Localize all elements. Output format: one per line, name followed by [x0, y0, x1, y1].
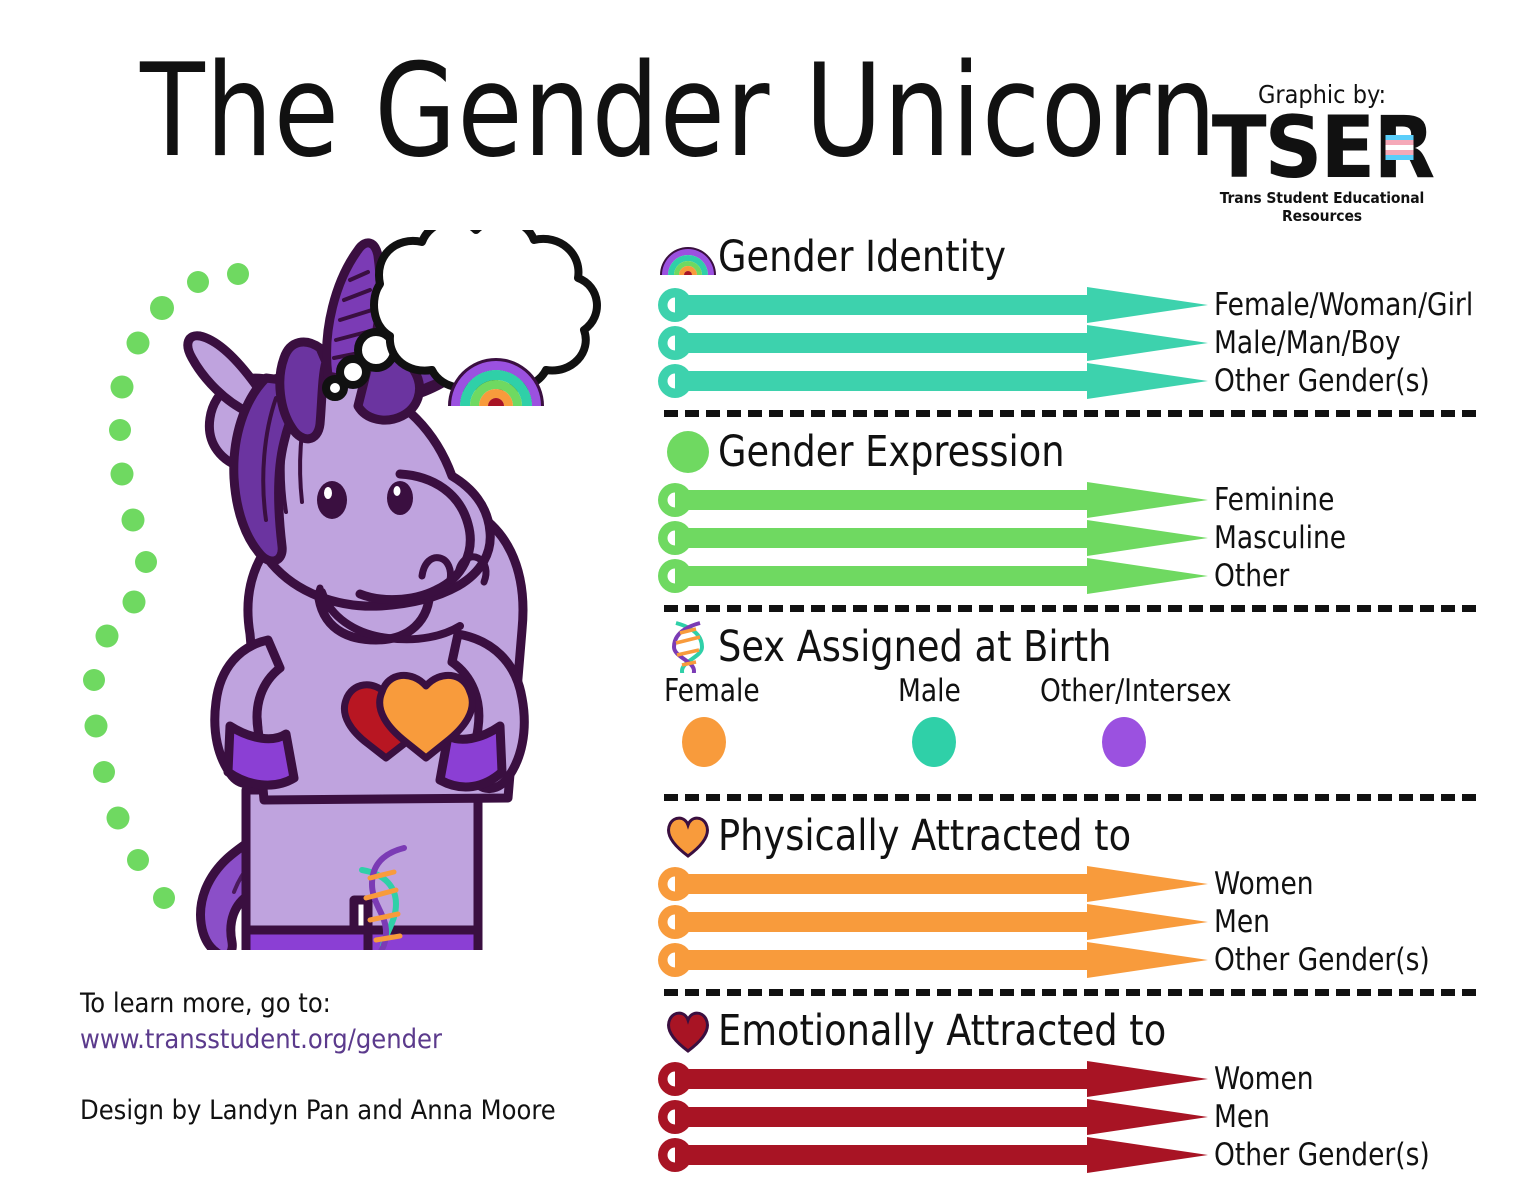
spectrum-rows: Feminine Masculine: [658, 481, 1478, 595]
spectrum-label: Other Gender(s): [1214, 1140, 1430, 1171]
section-header: Gender Expression: [658, 423, 1478, 481]
learn-more-label: To learn more, go to:: [80, 986, 442, 1022]
spectrum-arrow[interactable]: [658, 1098, 1208, 1136]
spectrum-rows: Women Men: [658, 865, 1478, 979]
sab-dot-female[interactable]: [682, 717, 726, 767]
spectrum-panel: Gender Identity Female/Woman/Girl: [658, 228, 1478, 1174]
sab-label: Male: [898, 676, 961, 707]
green-circle-icon: [658, 430, 718, 474]
learn-more-block: To learn more, go to: www.transstudent.o…: [80, 986, 442, 1059]
spectrum-row[interactable]: Women: [658, 1060, 1478, 1098]
sab-label: Other/Intersex: [1040, 676, 1232, 707]
spectrum-label: Women: [1214, 869, 1314, 900]
section-divider: [664, 794, 1476, 801]
section-header: Emotionally Attracted to: [658, 1002, 1478, 1060]
spectrum-arrow[interactable]: [658, 1136, 1208, 1174]
sab-option-male[interactable]: Male: [898, 676, 964, 767]
page-title: The Gender Unicorn: [140, 48, 1217, 176]
spectrum-label: Men: [1214, 1102, 1270, 1133]
unicorn-illustration: [70, 230, 670, 950]
section-sex-assigned-at-birth: Sex Assigned at Birth Female Male Other/…: [658, 618, 1478, 801]
orange-heart-icon: [658, 814, 718, 858]
section-gender-expression: Gender Expression Feminine: [658, 423, 1478, 612]
section-header: Sex Assigned at Birth: [658, 618, 1478, 676]
sab-label: Female: [664, 676, 760, 707]
spectrum-row[interactable]: Masculine: [658, 519, 1478, 557]
tser-logo: Graphic by: TSER Trans Student Education…: [1206, 82, 1438, 225]
sab-options: Female Male Other/Intersex: [658, 676, 1478, 784]
spectrum-arrow[interactable]: [658, 481, 1208, 519]
spectrum-row[interactable]: Men: [658, 903, 1478, 941]
spectrum-row[interactable]: Men: [658, 1098, 1478, 1136]
sab-dot-male[interactable]: [912, 717, 956, 767]
section-title: Emotionally Attracted to: [718, 1010, 1166, 1053]
spectrum-label: Men: [1214, 907, 1270, 938]
trans-flag-icon: [1385, 135, 1413, 160]
spectrum-row[interactable]: Other Gender(s): [658, 1136, 1478, 1174]
unicorn-character: [70, 230, 670, 950]
section-title: Physically Attracted to: [718, 815, 1131, 858]
spectrum-arrow[interactable]: [658, 362, 1208, 400]
spectrum-arrow[interactable]: [658, 903, 1208, 941]
spectrum-row[interactable]: Male/Man/Boy: [658, 324, 1478, 362]
spectrum-label: Other Gender(s): [1214, 366, 1430, 397]
spectrum-row[interactable]: Female/Woman/Girl: [658, 286, 1478, 324]
section-divider: [664, 410, 1476, 417]
sab-option-female[interactable]: Female: [664, 676, 765, 767]
section-title: Gender Expression: [718, 431, 1065, 474]
rainbow-arch-icon: [658, 239, 718, 275]
spectrum-arrow[interactable]: [658, 519, 1208, 557]
spectrum-label: Female/Woman/Girl: [1214, 290, 1473, 321]
spectrum-label: Feminine: [1214, 485, 1334, 516]
spectrum-label: Masculine: [1214, 523, 1346, 554]
spectrum-arrow[interactable]: [658, 286, 1208, 324]
spectrum-arrow[interactable]: [658, 865, 1208, 903]
spectrum-rows: Women Men: [658, 1060, 1478, 1174]
section-header: Gender Identity: [658, 228, 1478, 286]
website-url[interactable]: www.transstudent.org/gender: [80, 1022, 442, 1058]
section-gender-identity: Gender Identity Female/Woman/Girl: [658, 228, 1478, 417]
spectrum-row[interactable]: Other Gender(s): [658, 362, 1478, 400]
spectrum-row[interactable]: Women: [658, 865, 1478, 903]
red-heart-icon: [658, 1009, 718, 1053]
spectrum-arrow[interactable]: [658, 1060, 1208, 1098]
spectrum-row[interactable]: Other: [658, 557, 1478, 595]
section-title: Gender Identity: [718, 236, 1006, 279]
dna-helix-icon: [658, 621, 718, 673]
sab-option-other-intersex[interactable]: Other/Intersex: [1040, 676, 1242, 767]
spectrum-row[interactable]: Other Gender(s): [658, 941, 1478, 979]
section-emotionally-attracted-to: Emotionally Attracted to Women: [658, 1002, 1478, 1174]
sab-dot-other[interactable]: [1102, 717, 1146, 767]
design-credit: Design by Landyn Pan and Anna Moore: [80, 1095, 556, 1126]
section-divider: [664, 989, 1476, 996]
tser-wordmark: TSER: [1211, 109, 1432, 188]
spectrum-arrow[interactable]: [658, 324, 1208, 362]
spectrum-label: Male/Man/Boy: [1214, 328, 1401, 359]
section-physically-attracted-to: Physically Attracted to Women: [658, 807, 1478, 996]
section-title: Sex Assigned at Birth: [718, 626, 1111, 669]
spectrum-label: Other: [1214, 561, 1289, 592]
spectrum-row[interactable]: Feminine: [658, 481, 1478, 519]
spectrum-label: Other Gender(s): [1214, 945, 1430, 976]
spectrum-rows: Female/Woman/Girl Male/Man/Boy: [658, 286, 1478, 400]
section-divider: [664, 605, 1476, 612]
spectrum-arrow[interactable]: [658, 941, 1208, 979]
spectrum-label: Women: [1214, 1064, 1314, 1095]
spectrum-arrow[interactable]: [658, 557, 1208, 595]
section-header: Physically Attracted to: [658, 807, 1478, 865]
